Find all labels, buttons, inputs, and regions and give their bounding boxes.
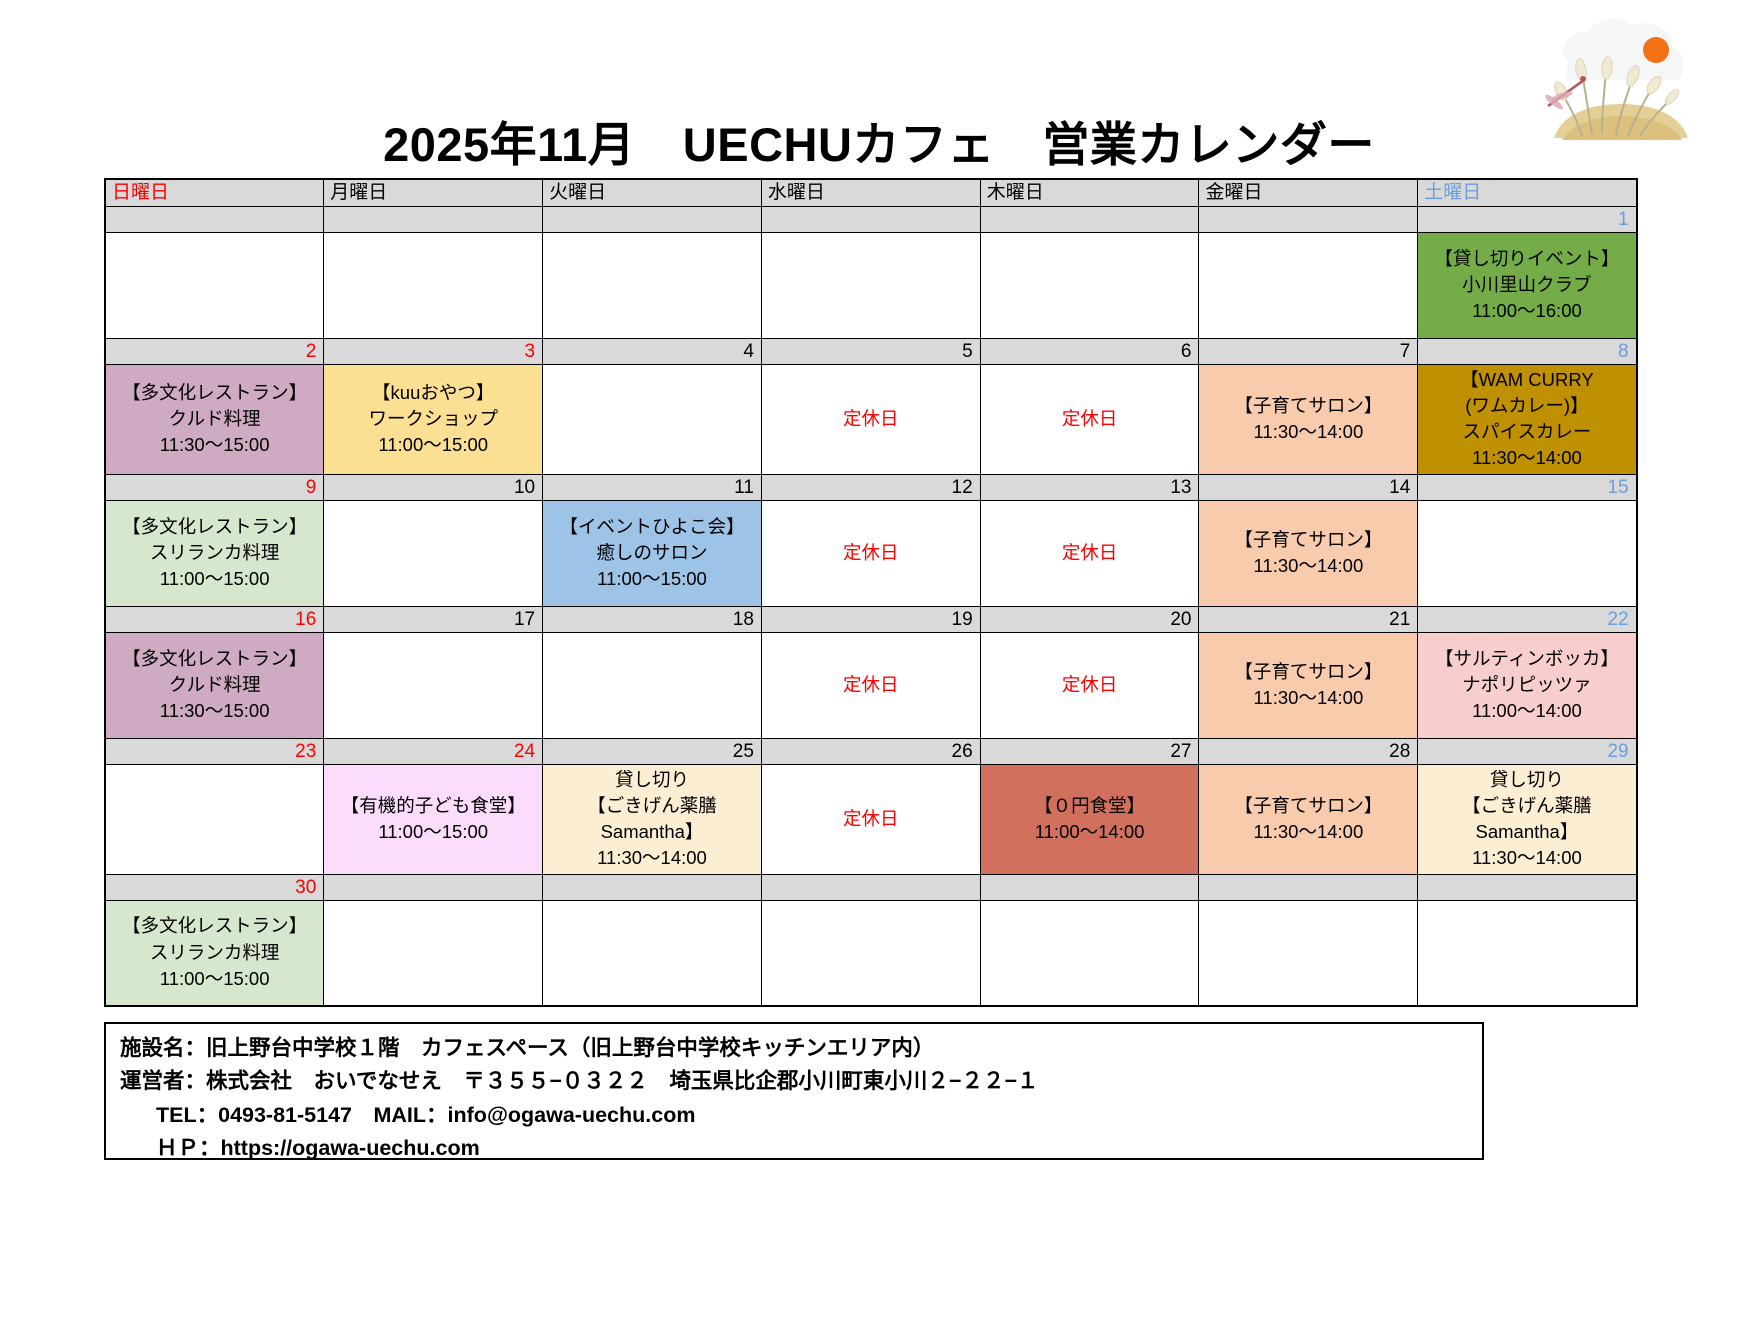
weekday-header-5: 金曜日 (1199, 179, 1418, 206)
date-number (980, 874, 1199, 900)
date-number: 29 (1418, 738, 1637, 764)
day-cell: 定休日 (761, 500, 980, 606)
date-number-row: 23242526272829 (105, 738, 1637, 764)
weekday-header-4: 木曜日 (980, 179, 1199, 206)
day-cell (324, 632, 543, 738)
day-content-row: 【多文化レストラン】 スリランカ料理 11:00〜15:00 (105, 900, 1637, 1006)
day-cell: 定休日 (980, 632, 1199, 738)
event-label: 貸し切り 【ごきげん薬膳 Samantha】 11:30〜14:00 (546, 767, 758, 872)
day-cell (1418, 900, 1637, 1006)
date-number: 9 (105, 474, 324, 500)
day-cell: 【子育てサロン】 11:30〜14:00 (1199, 632, 1418, 738)
day-cell (1199, 232, 1418, 338)
event-label: 【子育てサロン】 11:30〜14:00 (1202, 393, 1414, 446)
day-cell (761, 900, 980, 1006)
event-label: 【イベントひよこ会】 癒しのサロン 11:00〜15:00 (546, 514, 758, 593)
day-cell: 【多文化レストラン】 スリランカ料理 11:00〜15:00 (105, 900, 324, 1006)
day-content-row: 【有機的子ども食堂】 11:00〜15:00貸し切り 【ごきげん薬膳 Saman… (105, 764, 1637, 874)
day-cell (1418, 500, 1637, 606)
date-number: 15 (1418, 474, 1637, 500)
event-label: 【多文化レストラン】 クルド料理 11:30〜15:00 (109, 380, 320, 459)
closed-label: 定休日 (765, 672, 977, 698)
contact-line: TEL：0493-81-5147 MAIL：info@ogawa-uechu.c… (120, 1099, 1468, 1132)
day-cell: 【０円食堂】 11:00〜14:00 (980, 764, 1199, 874)
date-number: 16 (105, 606, 324, 632)
date-number: 3 (324, 338, 543, 364)
event-label: 【WAM CURRY (ワムカレー)】 スパイスカレー 11:30〜14:00 (1421, 367, 1632, 472)
day-cell: 定休日 (980, 500, 1199, 606)
event-label: 【子育てサロン】 11:30〜14:00 (1202, 527, 1414, 580)
day-cell (543, 900, 762, 1006)
day-cell (1199, 900, 1418, 1006)
date-number (543, 874, 762, 900)
date-number: 26 (761, 738, 980, 764)
date-number (324, 206, 543, 232)
closed-label: 定休日 (765, 540, 977, 566)
closed-label: 定休日 (984, 406, 1196, 432)
homepage-line: ＨＰ：https://ogawa-uechu.com (120, 1132, 1468, 1165)
day-cell: 【子育てサロン】 11:30〜14:00 (1199, 764, 1418, 874)
day-cell: 【子育てサロン】 11:30〜14:00 (1199, 364, 1418, 474)
facility-info-box: 施設名：旧上野台中学校１階 カフェスペース（旧上野台中学校キッチンエリア内） 運… (104, 1022, 1484, 1160)
date-number: 11 (543, 474, 762, 500)
day-cell: 【多文化レストラン】 スリランカ料理 11:00〜15:00 (105, 500, 324, 606)
date-number-row: 30 (105, 874, 1637, 900)
date-number: 23 (105, 738, 324, 764)
date-number-row: 2345678 (105, 338, 1637, 364)
date-number: 24 (324, 738, 543, 764)
event-label: 【kuuおやつ】 ワークショップ 11:00〜15:00 (327, 380, 539, 459)
day-cell (324, 232, 543, 338)
closed-label: 定休日 (765, 806, 977, 832)
date-number: 6 (980, 338, 1199, 364)
day-cell (543, 232, 762, 338)
date-number: 8 (1418, 338, 1637, 364)
calendar-title-row: 2025年11月 UECHUカフェ 営業カレンダー (0, 106, 1738, 175)
day-cell (324, 500, 543, 606)
day-cell: 【貸し切りイベント】 小川里山クラブ 11:00〜16:00 (1418, 232, 1637, 338)
day-cell: 【多文化レストラン】 クルド料理 11:30〜15:00 (105, 364, 324, 474)
day-cell: 【サルティンボッカ】 ナポリピッツァ 11:00〜14:00 (1418, 632, 1637, 738)
date-number: 13 (980, 474, 1199, 500)
date-number (761, 874, 980, 900)
day-content-row: 【貸し切りイベント】 小川里山クラブ 11:00〜16:00 (105, 232, 1637, 338)
event-label: 【子育てサロン】 11:30〜14:00 (1202, 793, 1414, 846)
date-number-row: 9101112131415 (105, 474, 1637, 500)
day-cell (980, 232, 1199, 338)
calendar-container: 日曜日月曜日火曜日水曜日木曜日金曜日土曜日 1【貸し切りイベント】 小川里山クラ… (104, 178, 1636, 1007)
day-content-row: 【多文化レストラン】 スリランカ料理 11:00〜15:00【イベントひよこ会】… (105, 500, 1637, 606)
day-cell (324, 900, 543, 1006)
event-label: 貸し切り 【ごきげん薬膳 Samantha】 11:30〜14:00 (1421, 767, 1632, 872)
date-number: 5 (761, 338, 980, 364)
calendar-table: 日曜日月曜日火曜日水曜日木曜日金曜日土曜日 1【貸し切りイベント】 小川里山クラ… (104, 178, 1638, 1007)
closed-label: 定休日 (984, 672, 1196, 698)
date-number (324, 874, 543, 900)
weekday-header-6: 土曜日 (1418, 179, 1637, 206)
event-label: 【貸し切りイベント】 小川里山クラブ 11:00〜16:00 (1421, 246, 1632, 325)
date-number: 25 (543, 738, 762, 764)
day-cell (761, 232, 980, 338)
date-number: 14 (1199, 474, 1418, 500)
date-number: 20 (980, 606, 1199, 632)
day-cell: 【WAM CURRY (ワムカレー)】 スパイスカレー 11:30〜14:00 (1418, 364, 1637, 474)
sun-icon (1643, 37, 1669, 63)
closed-label: 定休日 (765, 406, 977, 432)
event-label: 【子育てサロン】 11:30〜14:00 (1202, 659, 1414, 712)
date-number: 7 (1199, 338, 1418, 364)
day-cell (105, 232, 324, 338)
date-number: 21 (1199, 606, 1418, 632)
date-number: 12 (761, 474, 980, 500)
date-number: 27 (980, 738, 1199, 764)
weekday-header-2: 火曜日 (543, 179, 762, 206)
day-cell (543, 632, 762, 738)
day-cell (543, 364, 762, 474)
date-number (1199, 206, 1418, 232)
day-cell: 【イベントひよこ会】 癒しのサロン 11:00〜15:00 (543, 500, 762, 606)
day-cell: 【有機的子ども食堂】 11:00〜15:00 (324, 764, 543, 874)
event-label: 【多文化レストラン】 スリランカ料理 11:00〜15:00 (109, 913, 320, 992)
date-number (1418, 874, 1637, 900)
closed-label: 定休日 (984, 540, 1196, 566)
day-cell: 定休日 (980, 364, 1199, 474)
operator-line: 運営者：株式会社 おいでなせえ 〒３５５−０３２２ 埼玉県比企郡小川町東小川２−… (120, 1065, 1468, 1098)
facility-name-line: 施設名：旧上野台中学校１階 カフェスペース（旧上野台中学校キッチンエリア内） (120, 1032, 1468, 1065)
date-number: 30 (105, 874, 324, 900)
day-cell: 定休日 (761, 364, 980, 474)
weekday-header-3: 水曜日 (761, 179, 980, 206)
date-number: 4 (543, 338, 762, 364)
day-content-row: 【多文化レストラン】 クルド料理 11:30〜15:00定休日定休日【子育てサロ… (105, 632, 1637, 738)
event-label: 【有機的子ども食堂】 11:00〜15:00 (327, 793, 539, 846)
day-cell: 【子育てサロン】 11:30〜14:00 (1199, 500, 1418, 606)
calendar-header-row: 日曜日月曜日火曜日水曜日木曜日金曜日土曜日 (105, 179, 1637, 206)
event-label: 【多文化レストラン】 スリランカ料理 11:00〜15:00 (109, 514, 320, 593)
day-cell: 【kuuおやつ】 ワークショップ 11:00〜15:00 (324, 364, 543, 474)
event-label: 【０円食堂】 11:00〜14:00 (984, 793, 1196, 846)
day-cell: 【多文化レストラン】 クルド料理 11:30〜15:00 (105, 632, 324, 738)
date-number: 1 (1418, 206, 1637, 232)
calendar-body: 1【貸し切りイベント】 小川里山クラブ 11:00〜16:002345678【多… (105, 206, 1637, 1006)
date-number: 10 (324, 474, 543, 500)
event-label: 【多文化レストラン】 クルド料理 11:30〜15:00 (109, 646, 320, 725)
date-number: 22 (1418, 606, 1637, 632)
day-cell: 定休日 (761, 632, 980, 738)
date-number (980, 206, 1199, 232)
day-cell (105, 764, 324, 874)
date-number: 17 (324, 606, 543, 632)
weekday-header-0: 日曜日 (105, 179, 324, 206)
page-title: 2025年11月 UECHUカフェ 営業カレンダー (383, 118, 1375, 171)
date-number (761, 206, 980, 232)
day-cell: 貸し切り 【ごきげん薬膳 Samantha】 11:30〜14:00 (1418, 764, 1637, 874)
date-number: 19 (761, 606, 980, 632)
date-number (1199, 874, 1418, 900)
date-number: 18 (543, 606, 762, 632)
event-label: 【サルティンボッカ】 ナポリピッツァ 11:00〜14:00 (1421, 646, 1632, 725)
day-content-row: 【多文化レストラン】 クルド料理 11:30〜15:00【kuuおやつ】 ワーク… (105, 364, 1637, 474)
date-number (543, 206, 762, 232)
weekday-header-1: 月曜日 (324, 179, 543, 206)
date-number: 28 (1199, 738, 1418, 764)
date-number: 2 (105, 338, 324, 364)
date-number (105, 206, 324, 232)
date-number-row: 16171819202122 (105, 606, 1637, 632)
day-cell: 貸し切り 【ごきげん薬膳 Samantha】 11:30〜14:00 (543, 764, 762, 874)
day-cell: 定休日 (761, 764, 980, 874)
date-number-row: 1 (105, 206, 1637, 232)
day-cell (980, 900, 1199, 1006)
